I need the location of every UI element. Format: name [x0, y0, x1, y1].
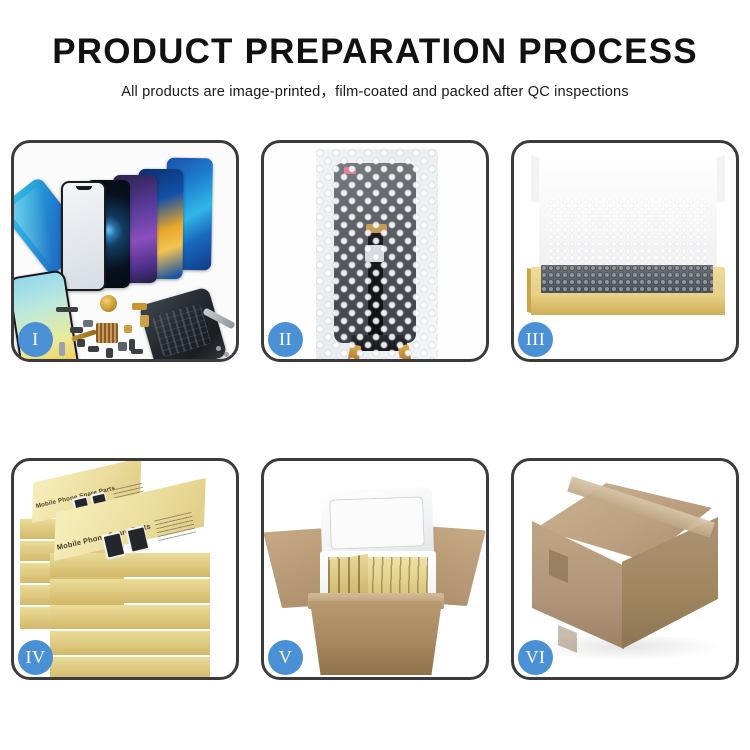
small-component-3 — [106, 348, 113, 358]
step-badge-3: III — [518, 322, 553, 357]
gold-connector-part — [132, 303, 147, 310]
page-subtitle: All products are image-printed，film-coat… — [0, 80, 750, 101]
screw-2 — [224, 352, 229, 357]
process-step-panel-2: II — [261, 140, 489, 362]
small-component-10 — [131, 349, 143, 354]
flex-cable-part — [140, 315, 149, 327]
small-component-4 — [118, 342, 127, 351]
step-badge-6: VI — [518, 640, 553, 675]
inner-box-tray-front — [531, 293, 725, 315]
stacked-box-front-3 — [50, 605, 210, 629]
vibration-motor-part — [100, 295, 117, 312]
stacked-box-front-1 — [50, 553, 210, 577]
carton-body — [310, 601, 442, 675]
process-step-panel-3: III — [511, 140, 739, 362]
bubble-texture-overlay — [316, 149, 438, 359]
bubble-wrap-bag — [316, 149, 438, 359]
step-badge-2: II — [268, 322, 303, 357]
small-component-1 — [77, 339, 85, 347]
small-component-8 — [83, 320, 93, 327]
product-preparation-process-page: PRODUCT PREPARATION PROCESS All products… — [0, 0, 750, 750]
wrapped-product-inside — [541, 265, 713, 295]
process-step-panel-5: V — [261, 458, 489, 680]
small-component-6 — [70, 327, 83, 333]
stacked-box-front-2 — [50, 579, 210, 603]
small-component-7 — [59, 342, 65, 356]
earpiece-speaker-part — [56, 307, 78, 312]
process-step-panel-1: I — [11, 140, 239, 362]
screw-1 — [216, 346, 221, 351]
step-badge-4: IV — [18, 640, 53, 675]
phone-motherboard — [138, 286, 227, 359]
foam-sheet — [548, 199, 708, 273]
page-title: PRODUCT PREPARATION PROCESS — [0, 34, 750, 71]
small-component-9 — [124, 325, 132, 333]
tempered-glass-protector — [61, 181, 106, 291]
process-steps-grid: I II — [11, 140, 739, 680]
chip-grid-part — [96, 323, 118, 343]
step-badge-1: I — [18, 322, 53, 357]
process-step-panel-4: Mobile Phone Spare Parts Mobile Phone Sp… — [11, 458, 239, 680]
step-badge-5: V — [268, 640, 303, 675]
small-component-2 — [88, 346, 99, 352]
process-step-panel-6: VI — [511, 458, 739, 680]
stacked-box-front-4 — [50, 631, 210, 655]
stacked-box-front-5 — [50, 657, 210, 677]
page-header: PRODUCT PREPARATION PROCESS All products… — [0, 0, 750, 101]
styrofoam-lid — [320, 487, 434, 561]
